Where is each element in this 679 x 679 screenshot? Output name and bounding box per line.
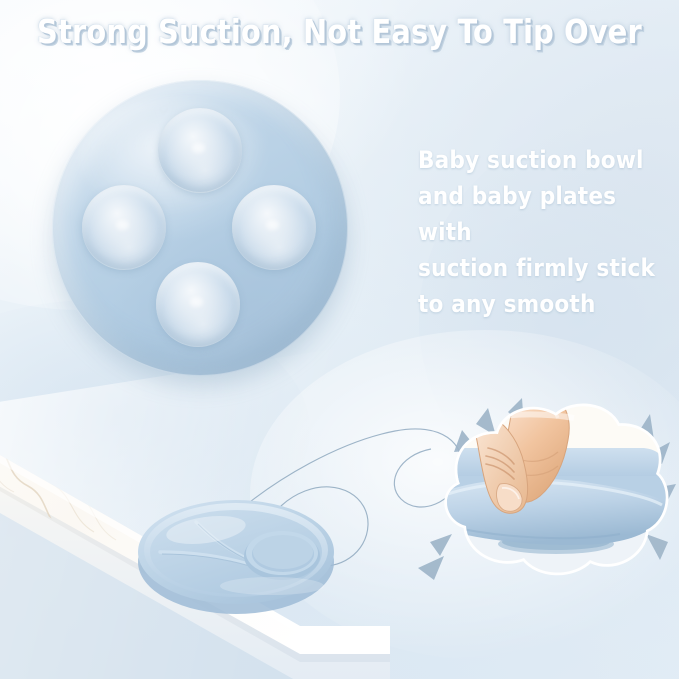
suction-cup-left: [82, 185, 166, 269]
suction-cup-bottom: [156, 262, 240, 346]
product-infographic: Strong Suction, Not Easy To Tip Over Bab…: [0, 0, 679, 679]
body-copy-line: Baby suction bowl: [418, 142, 670, 178]
divided-baby-plate: [132, 490, 348, 618]
body-copy-line: suction firmly stick: [418, 250, 670, 286]
suction-cup-right: [232, 185, 316, 269]
suction-plate-underside: [52, 80, 350, 378]
cloud-callout: [404, 392, 679, 622]
page-title: Strong Suction, Not Easy To Tip Over: [10, 12, 669, 51]
body-copy-line: and baby plates with: [418, 178, 670, 250]
suction-cup-top: [158, 108, 242, 192]
body-copy-line: to any smooth: [418, 286, 670, 322]
body-copy: Baby suction bowl and baby plates with s…: [418, 142, 670, 322]
